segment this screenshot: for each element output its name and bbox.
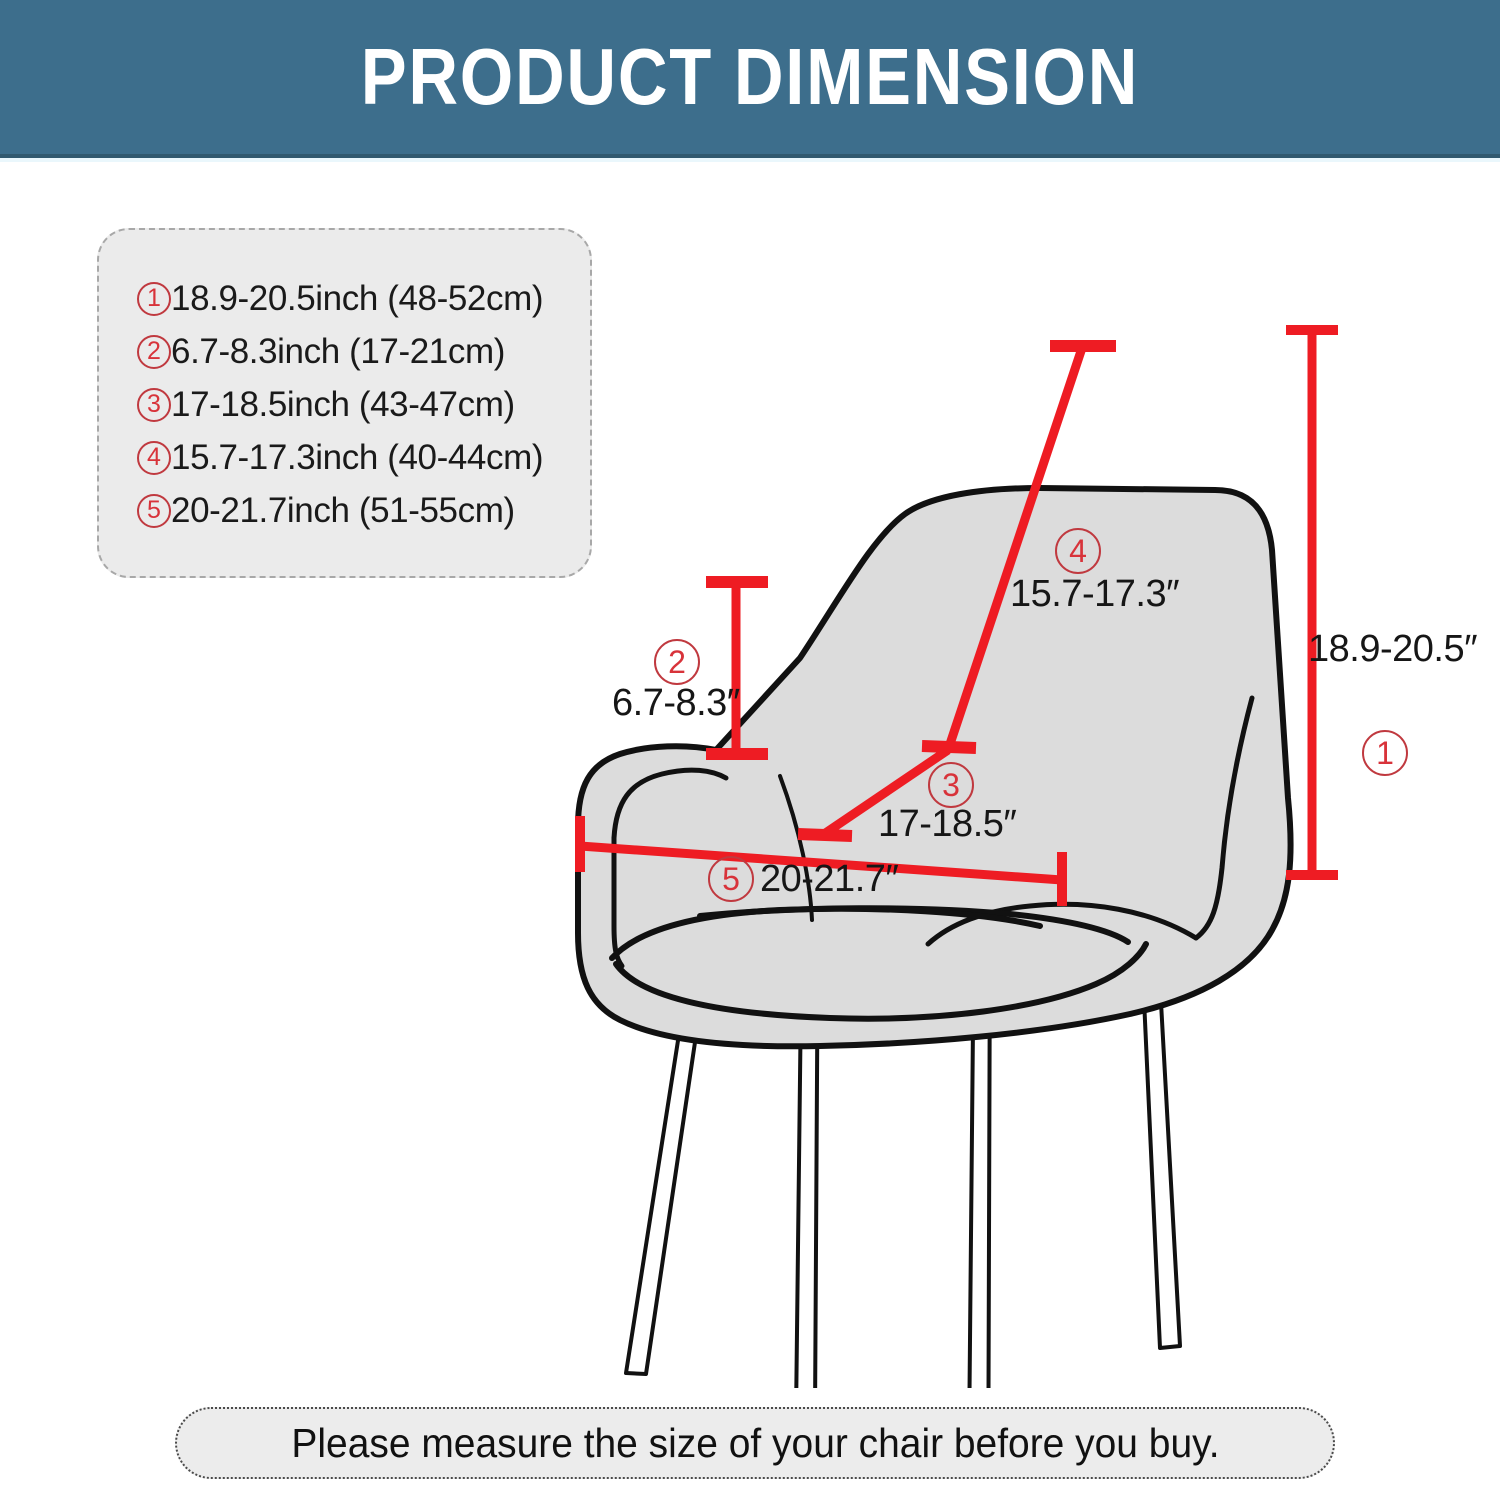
callout-value-1: 18.9-20.5″ bbox=[1308, 628, 1477, 671]
callout-marker-1: 1 bbox=[1362, 730, 1408, 776]
callout-value-5: 20-21.7″ bbox=[760, 858, 898, 901]
callout-marker-2: 2 bbox=[654, 639, 700, 685]
callout-value-3: 17-18.5″ bbox=[878, 803, 1016, 846]
callout-value-4: 15.7-17.3″ bbox=[1010, 573, 1179, 616]
chair-diagram: 1 18.9-20.5″ 2 6.7-8.3″ 3 17-18.5″ 4 15.… bbox=[0, 158, 1500, 1388]
callout-marker-3: 3 bbox=[928, 762, 974, 808]
callout-marker-4: 4 bbox=[1055, 528, 1101, 574]
callout-marker-5: 5 bbox=[708, 856, 754, 902]
callout-value-2: 6.7-8.3″ bbox=[612, 682, 740, 725]
page-title: PRODUCT DIMENSION bbox=[105, 0, 1395, 154]
dimension-line-1 bbox=[1286, 330, 1338, 875]
product-dimension-infographic: PRODUCT DIMENSION 1 18.9-20.5inch (48-52… bbox=[0, 0, 1500, 1487]
footer-note-text: Please measure the size of your chair be… bbox=[291, 1420, 1219, 1467]
header-bar: PRODUCT DIMENSION bbox=[0, 0, 1500, 158]
footer-note: Please measure the size of your chair be… bbox=[175, 1407, 1335, 1479]
chair-illustration bbox=[0, 158, 1500, 1388]
